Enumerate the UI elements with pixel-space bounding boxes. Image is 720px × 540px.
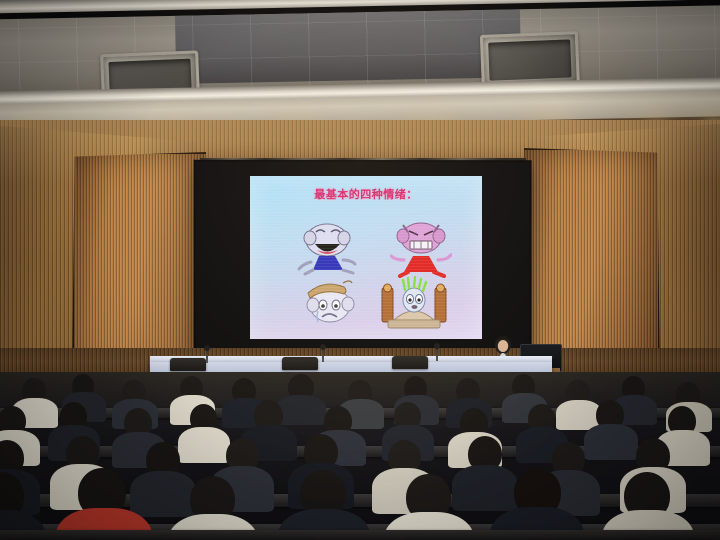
- microphone-icon: [322, 347, 324, 362]
- projected-slide: 最基本的四种情绪：: [250, 176, 482, 339]
- audience-seating: [0, 372, 720, 540]
- desk-row-front: [0, 530, 720, 540]
- slide-scanline-texture: [250, 176, 482, 339]
- lecture-hall-photo: 最基本的四种情绪：: [0, 0, 720, 540]
- microphone-icon: [436, 346, 438, 361]
- stage-chair: [282, 357, 318, 370]
- stage-chair: [170, 358, 206, 371]
- microphone-icon: [206, 348, 208, 363]
- stage-chair: [392, 356, 428, 369]
